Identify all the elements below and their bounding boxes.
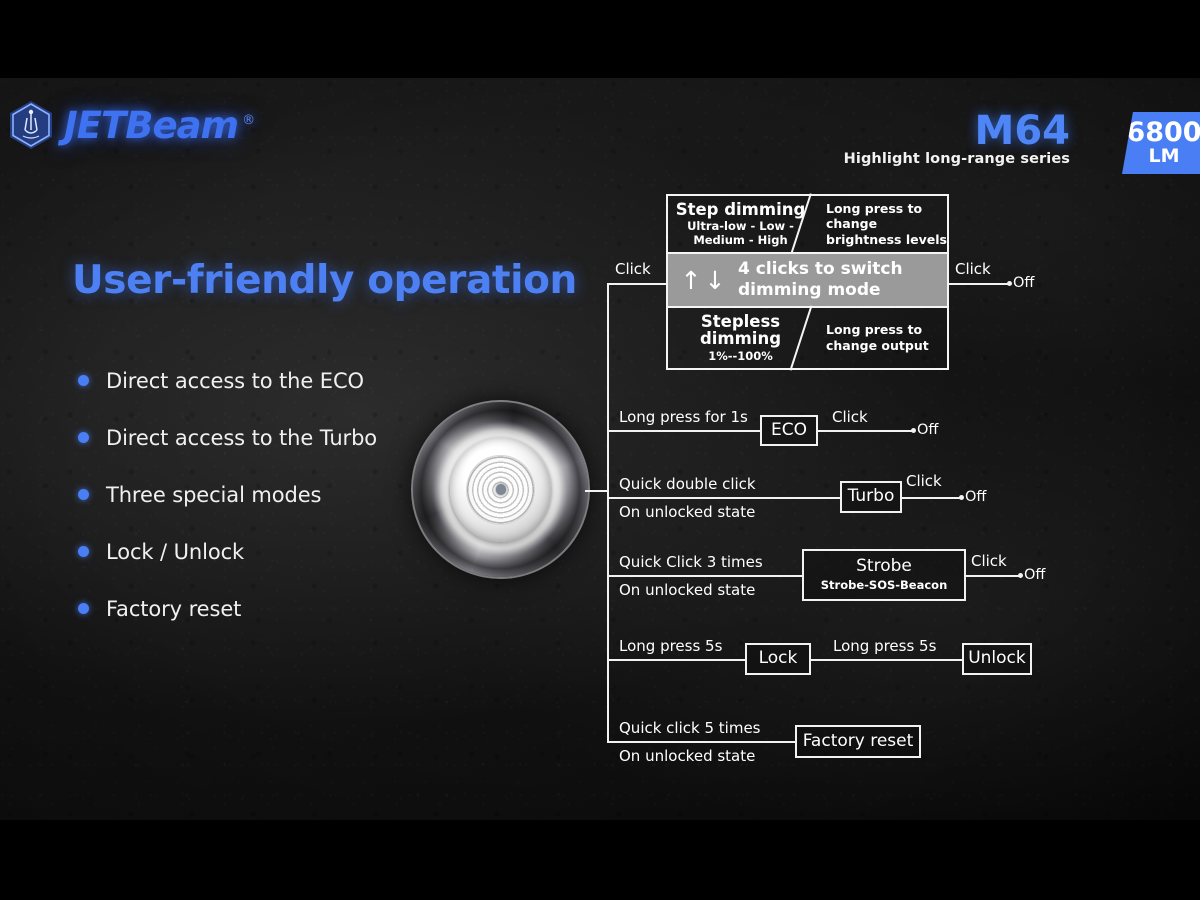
- node-unlock: Unlock: [962, 643, 1032, 675]
- turbo-condition-label: On unlocked state: [619, 503, 755, 521]
- trunk-line: [607, 283, 609, 741]
- node-factory-reset: Factory reset: [795, 725, 921, 758]
- step-dimming-info: Step dimming Ultra-low - Low - Medium - …: [668, 196, 813, 252]
- dimming-mode-switch-row: ↑↓ 4 clicks to switch dimming mode: [668, 254, 947, 308]
- node-lock: Lock: [745, 643, 811, 675]
- turbo-exit-target: Off: [965, 489, 986, 505]
- dimming-mode-switch-label: 4 clicks to switch dimming mode: [738, 259, 947, 300]
- node-strobe-sublabel: Strobe-SOS-Beacon: [821, 578, 948, 592]
- turbo-exit-terminal: [959, 495, 964, 500]
- node-lock-label: Lock: [759, 650, 798, 668]
- stepless-dimming-row: Stepless dimming 1%--100% Long press to …: [668, 308, 947, 368]
- strobe-condition-label: On unlocked state: [619, 581, 755, 599]
- eco-exit-target: Off: [917, 422, 938, 438]
- strobe-exit-line: [966, 575, 1021, 577]
- strobe-exit-target: Off: [1024, 567, 1045, 583]
- factory-reset-condition-label: On unlocked state: [619, 747, 755, 765]
- node-eco: ECO: [760, 415, 818, 446]
- turbo-exit-line: [902, 497, 962, 499]
- lock-trigger-label: Long press 5s: [619, 637, 722, 655]
- turbo-branch-line: [607, 497, 841, 499]
- dimming-branch-line: [607, 283, 668, 285]
- step-dimming-title: Step dimming: [676, 201, 806, 218]
- lock-branch-line: [607, 659, 746, 661]
- letterbox-bottom: [0, 820, 1200, 900]
- letterbox-top: [0, 0, 1200, 78]
- node-turbo: Turbo: [840, 481, 902, 513]
- dimming-branch-trigger-label: Click: [615, 260, 651, 278]
- up-down-arrows-icon: ↑↓: [668, 268, 738, 293]
- eco-exit-label: Click: [832, 408, 868, 426]
- strobe-exit-terminal: [1018, 573, 1023, 578]
- node-strobe: Strobe Strobe-SOS-Beacon: [802, 549, 966, 601]
- node-unlock-label: Unlock: [968, 650, 1026, 668]
- stepless-dimming-range: 1%--100%: [708, 350, 773, 363]
- node-eco-label: ECO: [771, 422, 807, 440]
- eco-branch-line: [607, 430, 761, 432]
- arrow-up-icon: ↑: [681, 268, 702, 293]
- dimming-exit-terminal: [1007, 281, 1012, 286]
- dimming-exit-target: Off: [1013, 275, 1034, 291]
- dimming-exit-label: Click: [955, 260, 991, 278]
- switch-to-trunk-connector: [585, 490, 609, 492]
- unlock-transition-line: [811, 659, 963, 661]
- step-dimming-levels: Ultra-low - Low - Medium - High: [672, 220, 809, 246]
- eco-exit-line: [818, 430, 914, 432]
- turbo-trigger-label: Quick double click: [619, 475, 756, 493]
- stepless-dimming-title: Stepless dimming: [672, 313, 809, 348]
- dimming-mode-box: Step dimming Ultra-low - Low - Medium - …: [666, 194, 949, 370]
- stepless-dimming-info: Stepless dimming 1%--100%: [668, 308, 813, 368]
- node-factory-reset-label: Factory reset: [803, 733, 914, 751]
- factory-reset-trigger-label: Quick click 5 times: [619, 719, 760, 737]
- step-dimming-action: Long press to change brightness levels: [813, 196, 947, 252]
- strobe-trigger-label: Quick Click 3 times: [619, 553, 763, 571]
- unlock-trigger-label: Long press 5s: [833, 637, 936, 655]
- operation-flow-diagram: Click Step dimming Ultra-low - Low - Med…: [0, 78, 1200, 820]
- node-strobe-label: Strobe: [856, 558, 912, 576]
- turbo-exit-label: Click: [906, 472, 942, 490]
- eco-trigger-label: Long press for 1s: [619, 408, 748, 426]
- eco-exit-terminal: [911, 428, 916, 433]
- step-dimming-row: Step dimming Ultra-low - Low - Medium - …: [668, 196, 947, 254]
- dimming-exit-line: [949, 283, 1010, 285]
- strobe-exit-label: Click: [971, 552, 1007, 570]
- strobe-branch-line: [607, 575, 803, 577]
- arrow-down-icon: ↓: [705, 268, 726, 293]
- factory-reset-branch-line: [607, 741, 796, 743]
- node-turbo-label: Turbo: [848, 488, 895, 506]
- stepless-dimming-action: Long press to change output: [813, 308, 947, 368]
